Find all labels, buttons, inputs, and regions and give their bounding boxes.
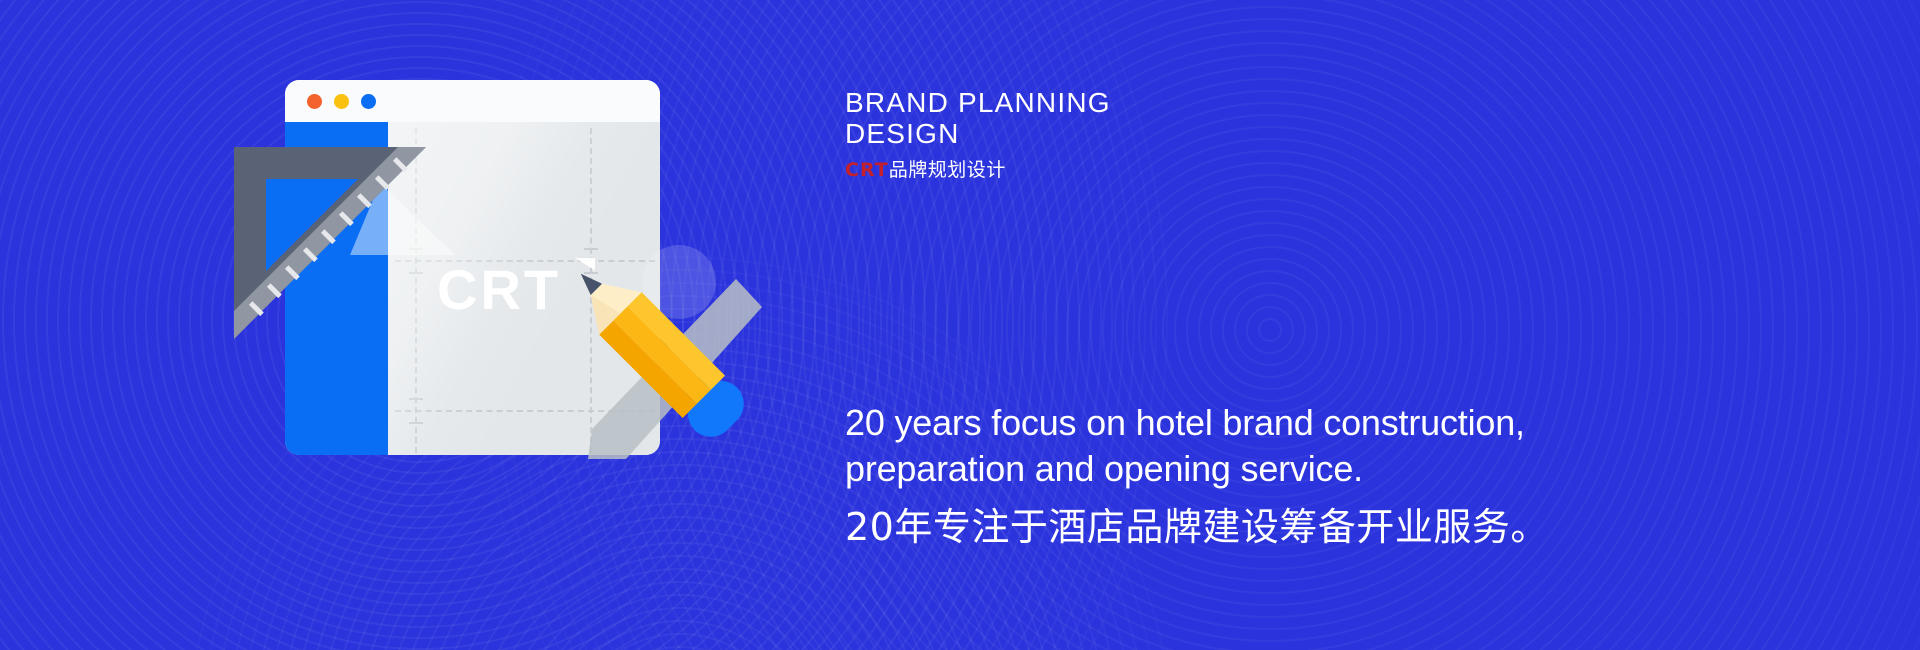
brand-banner: CRT — [0, 0, 1920, 650]
tagline-english: 20 years focus on hotel brand constructi… — [845, 400, 1675, 492]
headline-chinese-suffix: 品牌规划设计 — [889, 159, 1006, 181]
pencil-icon — [530, 223, 790, 483]
headline-english: BRAND PLANNING DESIGN — [845, 88, 1465, 149]
brand-illustration: CRT — [230, 75, 790, 585]
headline-chinese: CRT品牌规划设计 — [845, 155, 1465, 182]
maximize-dot[interactable] — [361, 94, 376, 109]
triangle-ruler-icon — [230, 143, 455, 361]
guide-crosshair — [409, 422, 423, 424]
close-dot[interactable] — [307, 94, 322, 109]
tagline-block: 20 years focus on hotel brand constructi… — [845, 400, 1675, 552]
headline-brand-prefix: CRT — [845, 159, 889, 181]
minimize-dot[interactable] — [334, 94, 349, 109]
tagline-chinese: 20年专注于酒店品牌建设筹备开业服务。 — [845, 504, 1675, 552]
guide-crosshair — [409, 398, 423, 400]
window-titlebar — [285, 80, 660, 122]
headline-block: BRAND PLANNING DESIGN CRT品牌规划设计 — [845, 88, 1465, 182]
